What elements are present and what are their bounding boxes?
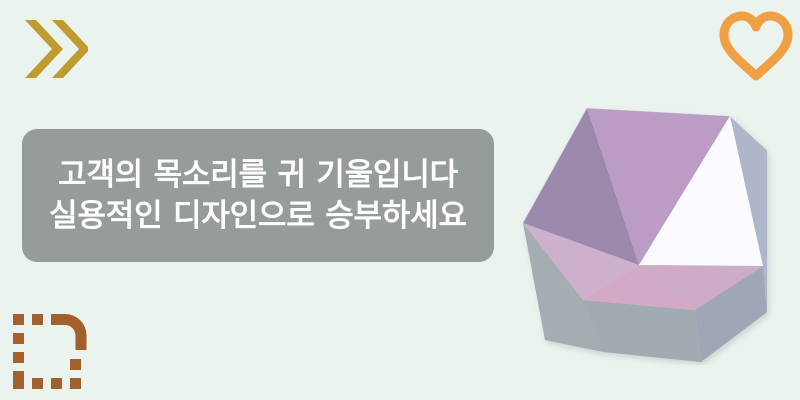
dashed-corner-frame-icon	[10, 310, 90, 392]
double-chevron-right-icon	[22, 16, 88, 82]
headline-line-1: 고객의 목소리를 귀 기울입니다	[58, 155, 458, 195]
banner-canvas: 고객의 목소리를 귀 기울입니다 실용적인 디자인으로 승부하세요	[0, 0, 800, 400]
headline-line-2: 실용적인 디자인으로 승부하세요	[49, 196, 467, 236]
heart-outline-icon	[714, 8, 798, 82]
icosahedron-icon	[505, 90, 795, 365]
message-box: 고객의 목소리를 귀 기울입니다 실용적인 디자인으로 승부하세요	[22, 129, 494, 262]
